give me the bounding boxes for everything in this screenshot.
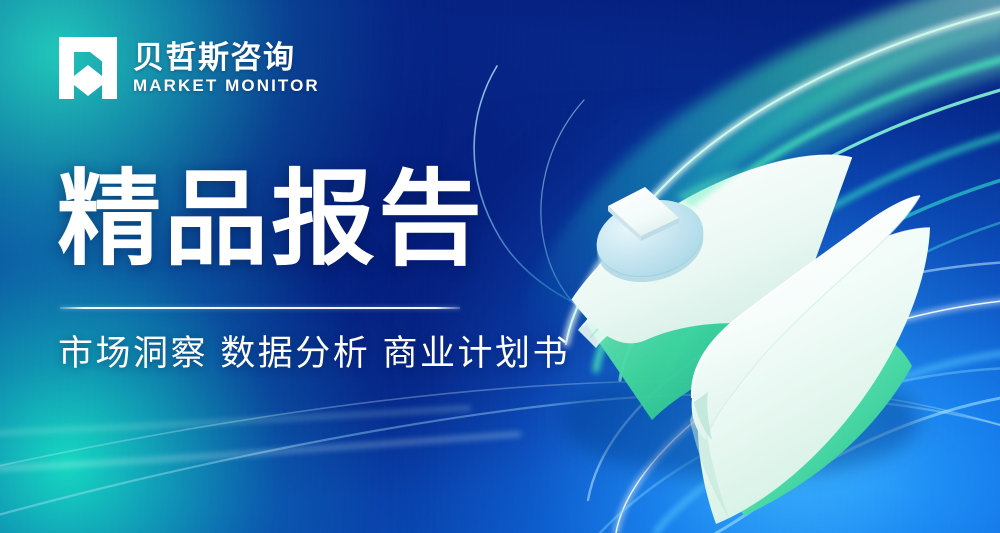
title-divider (60, 307, 460, 309)
page-title: 精品报告 (57, 168, 485, 272)
report-banner: 贝哲斯咨询 MARKET MONITOR 精品报告 市场洞察 数据分析 商业计划… (0, 0, 1000, 533)
brand-logo[interactable]: 贝哲斯咨询 MARKET MONITOR (57, 35, 320, 101)
company-name-en: MARKET MONITOR (133, 77, 320, 94)
company-name-cn: 贝哲斯咨询 (133, 42, 320, 73)
brand-logo-text: 贝哲斯咨询 MARKET MONITOR (133, 42, 320, 94)
page-subtitle: 市场洞察 数据分析 商业计划书 (58, 332, 570, 376)
market-monitor-m-mark-icon (57, 35, 119, 101)
